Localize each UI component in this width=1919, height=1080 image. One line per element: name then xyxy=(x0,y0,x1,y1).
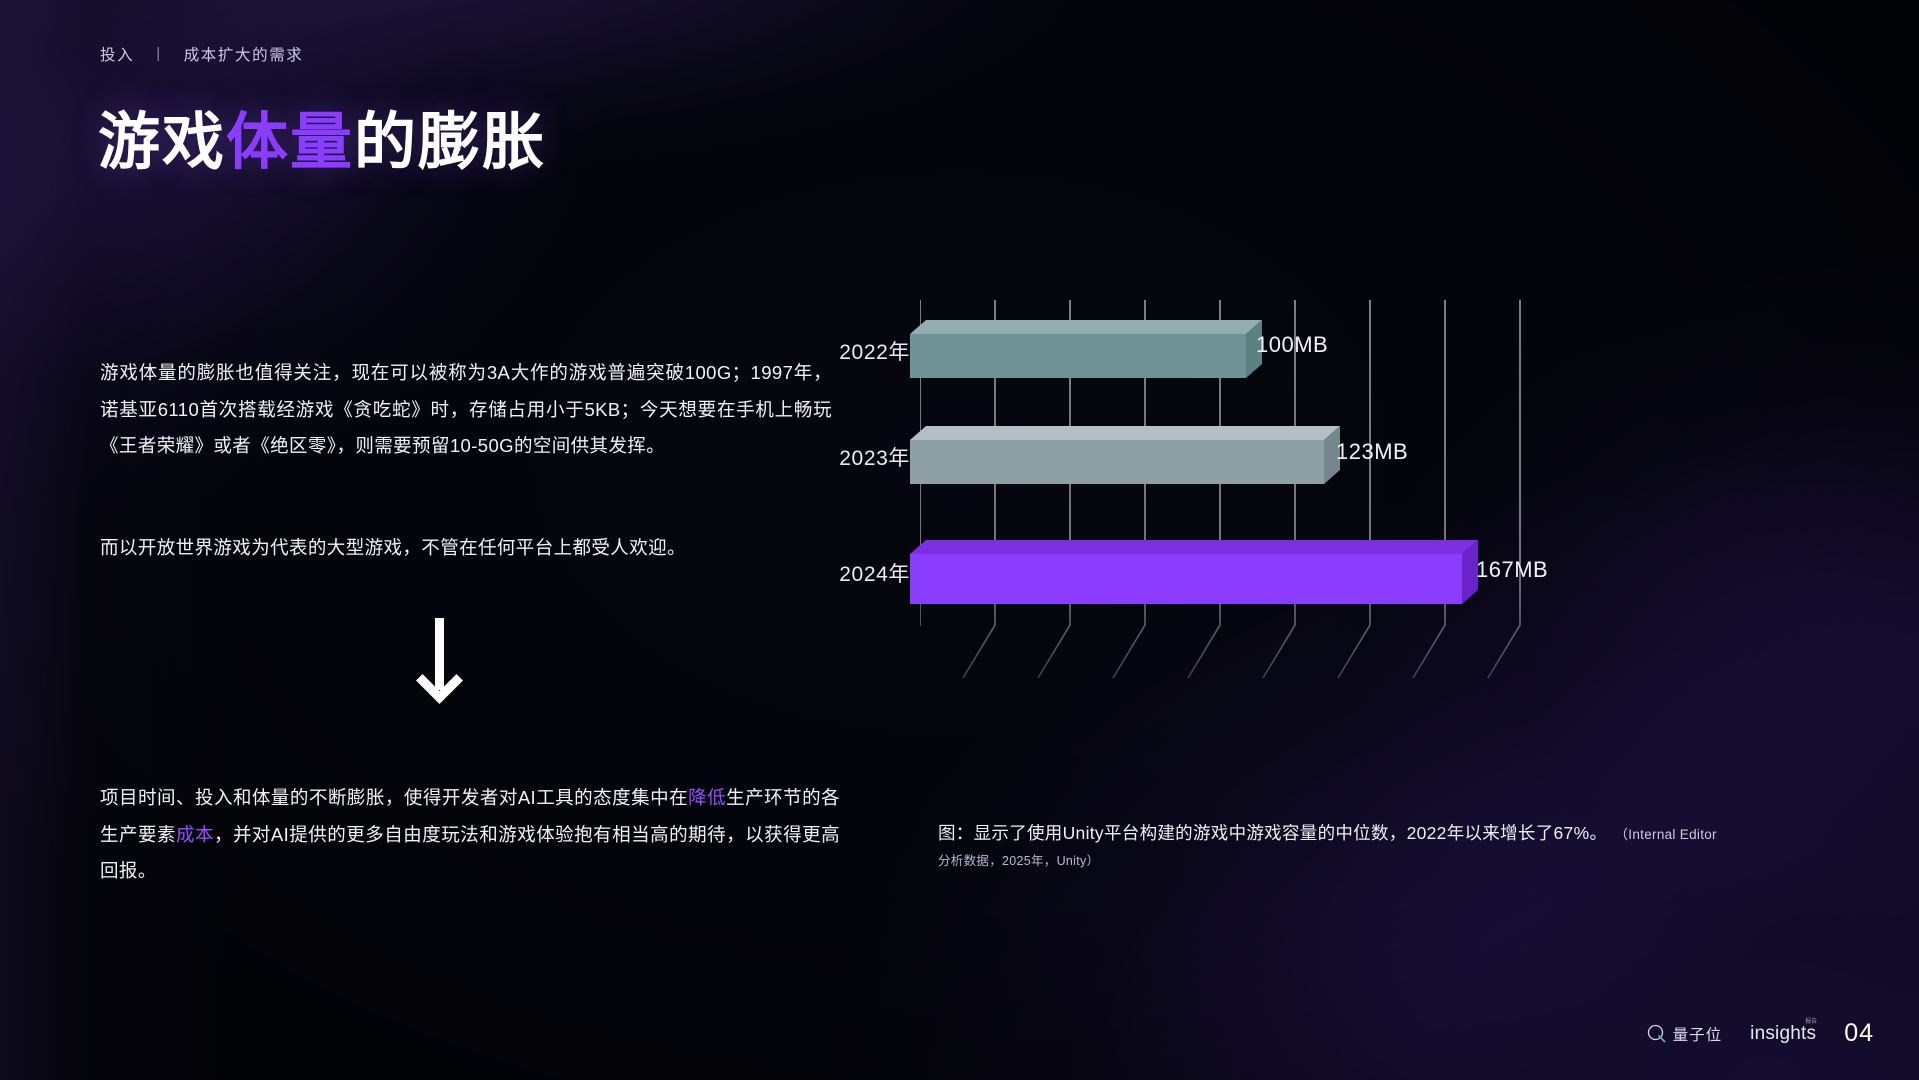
page-title: 游戏体量的膨胀 xyxy=(98,110,546,177)
chart-value-label-2022: 100MB xyxy=(1256,332,1328,358)
body-paragraph-3-text-a: 项目时间、投入和体量的不断膨胀，使得开发者对AI工具的态度集中在 xyxy=(100,787,688,808)
chart-bar-2024 xyxy=(910,540,1462,590)
chart-value-label-2024: 167MB xyxy=(1476,557,1548,583)
chart-caption-highlight: 67% xyxy=(1554,823,1590,843)
breadcrumb-separator: | xyxy=(156,45,162,62)
footer: 量子位 insights 报告 04 xyxy=(1647,1019,1874,1048)
chart-value-label-2023: 123MB xyxy=(1336,439,1408,465)
brand-name: 量子位 xyxy=(1673,1023,1723,1045)
breadcrumb-item-2[interactable]: 成本扩大的需求 xyxy=(184,43,304,65)
chart-category-label-2023: 2023年 xyxy=(760,442,910,472)
body-paragraph-3-highlight-2: 成本 xyxy=(176,824,214,845)
insights-logo: insights 报告 xyxy=(1750,1023,1816,1045)
insights-label: insights xyxy=(1750,1023,1816,1044)
chart-caption-text-a: 图：显示了使用Unity平台构建的游戏中游戏容量的中位数，2022年以来增长了 xyxy=(938,823,1554,843)
page-title-part-1: 游戏 xyxy=(98,108,226,177)
insights-superscript: 报告 xyxy=(1805,1016,1817,1025)
page-title-part-2: 的膨胀 xyxy=(354,108,546,177)
chart-category-label-2022: 2022年 xyxy=(760,336,910,366)
chart-caption-text-b: 。 xyxy=(1589,823,1607,843)
breadcrumb-item-1[interactable]: 投入 xyxy=(100,43,134,65)
chart-caption: 图：显示了使用Unity平台构建的游戏中游戏容量的中位数，2022年以来增长了6… xyxy=(938,820,1888,869)
down-arrow-icon xyxy=(410,618,470,713)
chart-caption-source-inline: （Internal Editor xyxy=(1621,827,1717,842)
body-paragraph-3: 项目时间、投入和体量的不断膨胀，使得开发者对AI工具的态度集中在降低生产环节的各… xyxy=(100,780,840,890)
slide-canvas: 投入 | 成本扩大的需求 游戏体量的膨胀 游戏体量的膨胀也值得关注，现在可以被称… xyxy=(0,0,1919,1080)
brand-logo: 量子位 xyxy=(1647,1023,1723,1045)
chart-category-label-2024: 2024年 xyxy=(760,558,910,588)
chart-bar-2023 xyxy=(910,426,1324,470)
qbitai-mark-icon xyxy=(1647,1024,1666,1043)
chart-caption-line: 图：显示了使用Unity平台构建的游戏中游戏容量的中位数，2022年以来增长了6… xyxy=(938,820,1888,846)
page-number: 04 xyxy=(1844,1019,1874,1048)
page-title-highlight: 体量 xyxy=(226,108,354,177)
breadcrumb: 投入 | 成本扩大的需求 xyxy=(100,43,303,65)
body-paragraph-3-highlight-1: 降低 xyxy=(688,787,726,808)
chart-caption-source-sub: 分析数据，2025年，Unity） xyxy=(938,850,1888,869)
body-paragraph-2: 而以开放世界游戏为代表的大型游戏，不管在任何平台上都受人欢迎。 xyxy=(100,530,832,567)
bar-chart: 2022年 100MB 2023年 123MB 2024年 xyxy=(920,300,1880,800)
chart-bar-2022 xyxy=(910,320,1246,364)
body-paragraph-1: 游戏体量的膨胀也值得关注，现在可以被称为3A大作的游戏普遍突破100G；1997… xyxy=(100,355,832,465)
